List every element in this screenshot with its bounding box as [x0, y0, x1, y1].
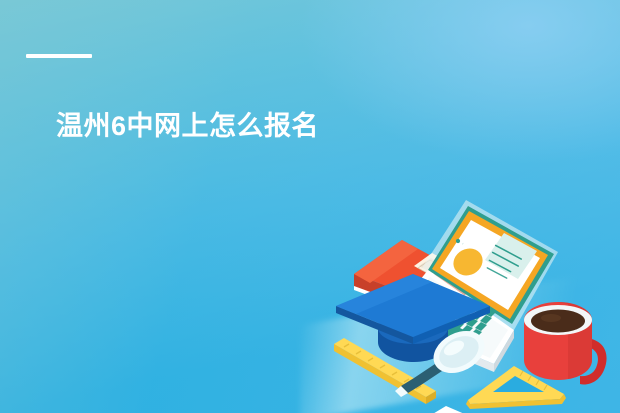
illustration-e-learning-desk — [318, 178, 620, 413]
background-highlight-glow — [298, 0, 620, 165]
accent-rule — [26, 54, 92, 58]
coffee-mug-icon — [524, 302, 607, 384]
page-title: 温州6中网上怎么报名 — [56, 108, 319, 144]
banner: 温州6中网上怎么报名 — [0, 0, 620, 413]
eraser-icon — [426, 406, 474, 413]
